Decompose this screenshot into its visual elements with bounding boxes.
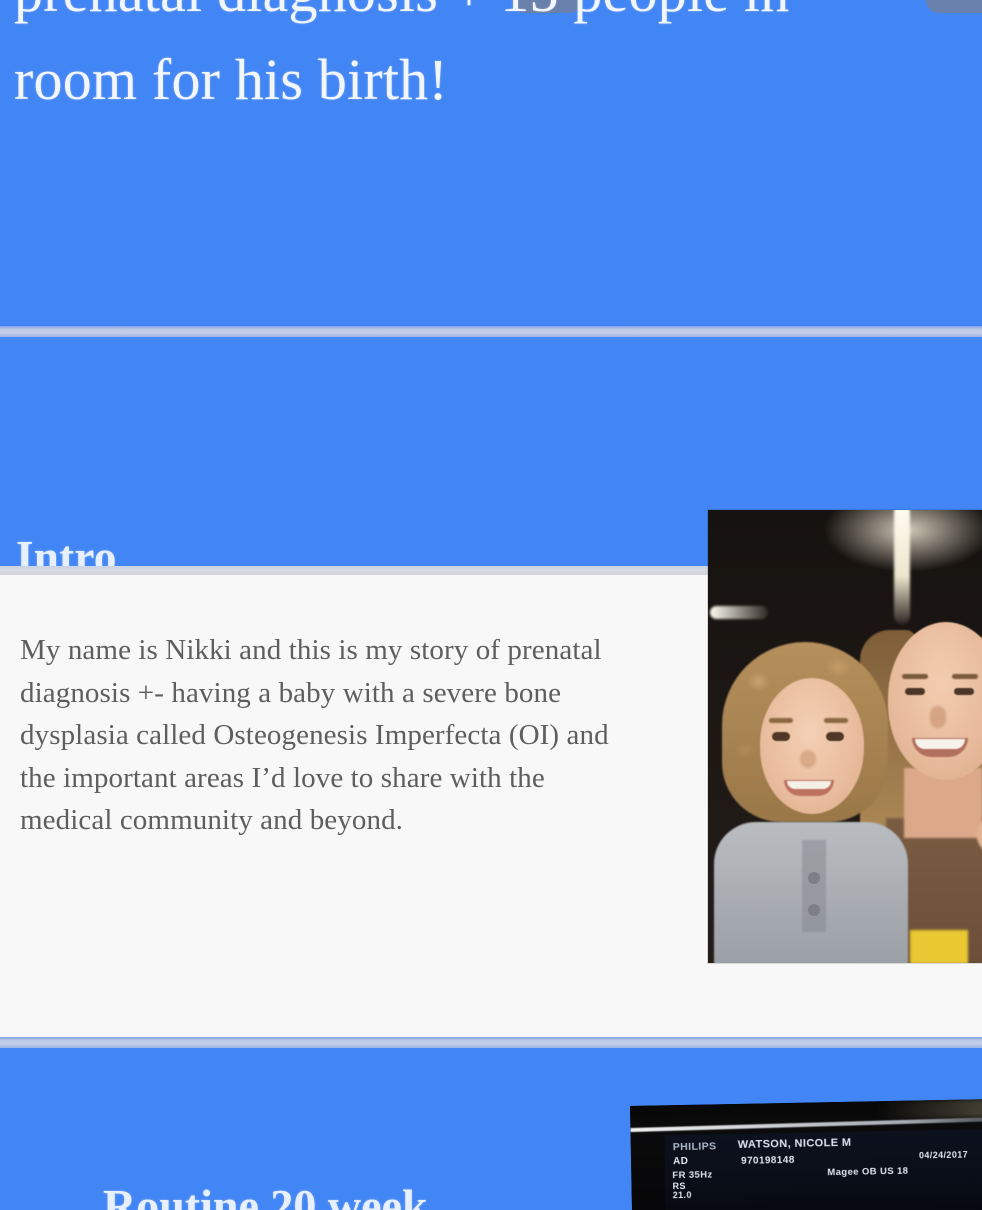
slide-divider-2	[0, 1037, 982, 1048]
child-eye-right	[826, 732, 844, 741]
ultrasound-id-label: AD	[673, 1156, 688, 1167]
child-shirt-button-top	[808, 872, 820, 884]
title-line-1: prenatal diagnosis + 15 people in	[14, 0, 982, 36]
ultrasound-brand-label: PHILIPS	[673, 1140, 717, 1153]
slide-routine-20-week[interactable]: Routine 20 week PHILIPS WATSON, NICOLE M…	[0, 1048, 982, 1210]
ultrasound-exam-date: 04/24/2017	[919, 1150, 968, 1161]
child-nose	[800, 750, 816, 768]
slide-title-text: prenatal diagnosis + 15 people in room f…	[14, 0, 982, 124]
ultrasound-frame-rate: FR 35Hz	[672, 1169, 712, 1181]
child-eye-left	[772, 732, 790, 741]
woman-eyebrow-left	[902, 674, 928, 679]
woman-teeth	[915, 739, 965, 749]
intro-paragraph: My name is Nikki and this is my story of…	[20, 629, 610, 842]
child-teeth	[787, 781, 831, 789]
ultrasound-monitor-photo[interactable]: PHILIPS WATSON, NICOLE M AD 970198148 04…	[630, 1098, 982, 1210]
woman-nose	[930, 706, 946, 728]
slide-intro[interactable]: Intro My name is Nikki and this is my st…	[0, 337, 982, 1043]
child-shirt-placket	[802, 840, 826, 932]
ultrasound-mrn: 970198148	[741, 1155, 795, 1167]
photo-yellow-accent	[910, 930, 968, 963]
title-line-2: room for his birth!	[14, 36, 982, 124]
family-photo[interactable]	[708, 510, 982, 963]
ultrasound-site-label: Magee OB US 18	[827, 1166, 908, 1179]
child-eyebrow-right	[824, 718, 848, 723]
woman-eye-right	[954, 688, 974, 695]
ultrasound-patient-name: WATSON, NICOLE M	[738, 1137, 852, 1151]
child-eyebrow-left	[769, 718, 793, 723]
routine-heading: Routine 20 week	[103, 1178, 428, 1210]
woman-eye-left	[905, 688, 925, 695]
ceiling-light-secondary-icon	[710, 606, 768, 619]
child-shirt-button-bottom	[808, 904, 820, 916]
woman-eyebrow-right	[952, 674, 978, 679]
slide-title[interactable]: prenatal diagnosis + 15 people in room f…	[0, 0, 982, 330]
slide-divider-1	[0, 326, 982, 337]
monitor-top-glow	[878, 1099, 982, 1120]
ultrasound-depth-value: 21.0	[673, 1190, 692, 1200]
slide-deck-canvas[interactable]: prenatal diagnosis + 15 people in room f…	[0, 0, 982, 1210]
